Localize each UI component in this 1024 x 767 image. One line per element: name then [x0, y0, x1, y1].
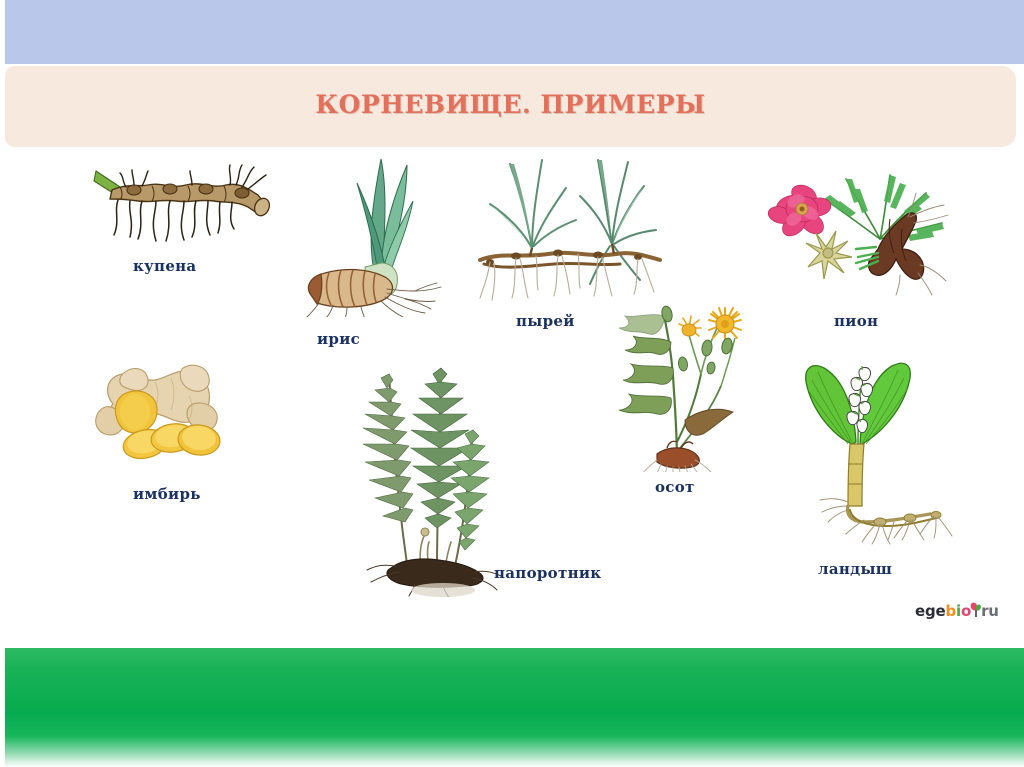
osot-flower-open	[709, 308, 741, 342]
watermark-ege: ege	[915, 602, 945, 620]
figure-paporotnik	[355, 352, 515, 597]
title-panel: КОРНЕВИЩЕ. ПРИМЕРЫ	[5, 66, 1016, 147]
label-landysh: ландыш	[818, 560, 892, 578]
fern-frond-left	[363, 374, 413, 564]
label-osot: осот	[655, 478, 695, 496]
label-kupena: купена	[133, 257, 196, 275]
watermark-ru: ru	[981, 602, 999, 620]
slide: КОРНЕВИЩЕ. ПРИМЕРЫ	[0, 0, 1024, 767]
pion-illustration	[750, 157, 960, 297]
label-iris: ирис	[317, 330, 360, 348]
fern-root-clump	[367, 559, 501, 597]
figure-pion	[750, 157, 960, 297]
watermark-egebio: egebio ru	[915, 602, 999, 622]
figure-iris	[295, 147, 455, 317]
imbir-illustration	[85, 352, 250, 467]
page-title: КОРНЕВИЩЕ. ПРИМЕРЫ	[5, 90, 1016, 119]
figure-landysh	[790, 352, 965, 557]
label-pion: пион	[834, 312, 878, 330]
label-paporotnik: папоротник	[494, 564, 601, 582]
osot-flower-small	[679, 316, 701, 336]
pyrej-illustration	[470, 152, 670, 302]
figures-canvas: купена	[5, 147, 1024, 648]
osot-illustration	[615, 302, 770, 472]
bottom-green-band	[5, 648, 1024, 767]
landysh-illustration	[790, 352, 965, 557]
label-imbir: имбирь	[133, 485, 201, 503]
peony-flower-petals	[766, 181, 832, 240]
iris-illustration	[295, 147, 455, 317]
top-blue-band	[5, 0, 1024, 64]
figure-osot	[615, 302, 770, 472]
paporotnik-illustration	[355, 352, 515, 597]
figure-kupena	[90, 157, 290, 267]
watermark-b: b	[945, 602, 956, 620]
label-pyrej: пырей	[516, 312, 575, 330]
figure-imbir	[85, 352, 250, 467]
figure-pyrej	[470, 152, 670, 302]
kupena-illustration	[90, 157, 290, 267]
